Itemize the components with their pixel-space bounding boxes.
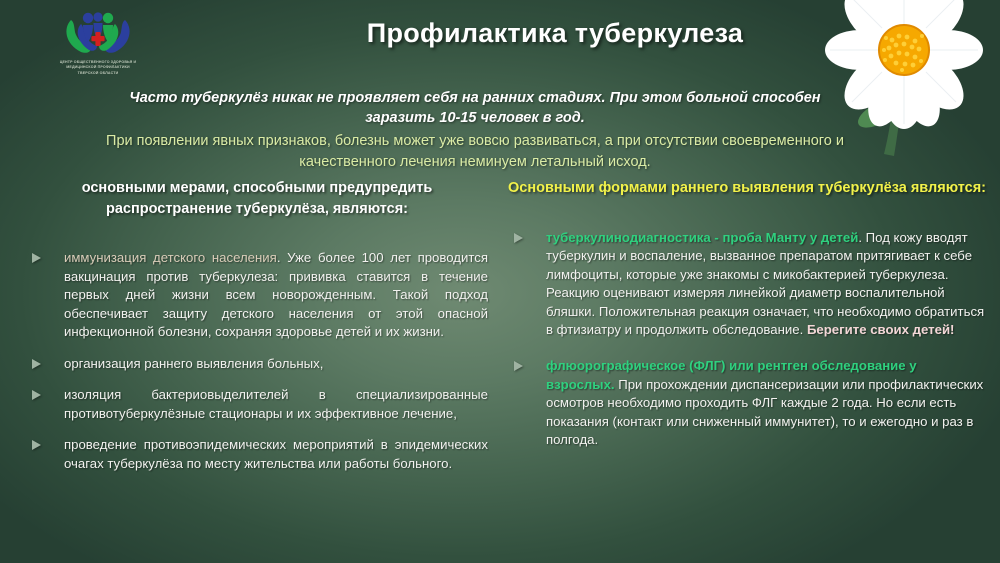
intro-line-yellow: При появлении явных признаков, болезнь м… <box>105 131 845 172</box>
bullet-arrow-icon <box>32 359 41 369</box>
left-column: основными мерами, способными предупредит… <box>26 178 488 473</box>
right-column-bullet-list: туберкулинодиагностика - проба Манту у д… <box>508 229 986 450</box>
logo-caption-line-3: ТВЕРСКОЙ ОБЛАСТИ <box>44 71 152 76</box>
list-item: флюорографическое (ФЛГ) или рентген обсл… <box>508 357 986 449</box>
right-column-heading: Основными формами раннего выявления тубе… <box>508 178 986 199</box>
page-title: Профилактика туберкулеза <box>300 18 810 49</box>
list-item-text: . Под кожу вводят туберкулин и воспалени… <box>546 230 984 337</box>
list-item-lead: туберкулинодиагностика - проба Манту у д… <box>546 230 858 245</box>
organization-logo: ЦЕНТР ОБЩЕСТВЕННОГО ЗДОРОВЬЯ И МЕДИЦИНСК… <box>44 8 152 76</box>
list-item-tail: Берегите своих детей! <box>807 322 955 337</box>
list-item: изоляция бактериовыделителей в специализ… <box>26 386 488 423</box>
left-column-bullet-list: иммунизация детского населения. Уже боле… <box>26 249 488 473</box>
list-item: туберкулинодиагностика - проба Манту у д… <box>508 229 986 340</box>
list-item-lead: иммунизация детского населения <box>64 250 277 265</box>
slide-canvas: ЦЕНТР ОБЩЕСТВЕННОГО ЗДОРОВЬЯ И МЕДИЦИНСК… <box>0 0 1000 563</box>
health-center-emblem-icon <box>61 8 135 58</box>
list-item-text: проведение противоэпидемических мероприя… <box>64 437 488 470</box>
right-column: Основными формами раннего выявления тубе… <box>508 178 986 450</box>
intro-text-block: Часто туберкулёз никак не проявляет себя… <box>105 88 845 172</box>
list-item: организация раннего выявления больных, <box>26 355 488 373</box>
list-item: проведение противоэпидемических мероприя… <box>26 436 488 473</box>
intro-line-white: Часто туберкулёз никак не проявляет себя… <box>105 88 845 128</box>
bullet-arrow-icon <box>32 253 41 263</box>
bullet-arrow-icon <box>514 361 523 371</box>
bullet-arrow-icon <box>514 233 523 243</box>
list-item: иммунизация детского населения. Уже боле… <box>26 249 488 341</box>
bullet-arrow-icon <box>32 440 41 450</box>
bullet-arrow-icon <box>32 390 41 400</box>
left-column-heading: основными мерами, способными предупредит… <box>26 178 488 219</box>
list-item-text: изоляция бактериовыделителей в специализ… <box>64 387 488 420</box>
list-item-text: организация раннего выявления больных, <box>64 356 323 371</box>
